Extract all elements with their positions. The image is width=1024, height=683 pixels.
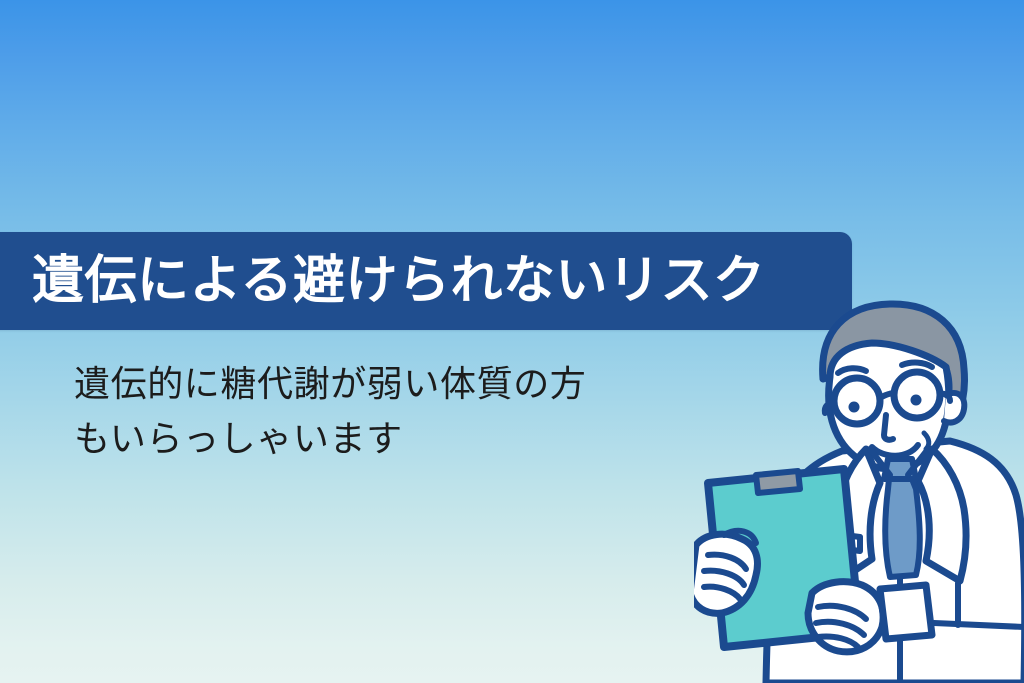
clipboard-board (708, 469, 860, 647)
title-banner: 遺伝による避けられないリスク (0, 232, 852, 330)
glasses-right-lens (894, 372, 940, 418)
coat-pocket (814, 531, 860, 537)
coat-lapel-left (836, 449, 880, 579)
glasses-bridge (880, 393, 894, 398)
hand-right-finger-3 (818, 636, 858, 647)
neck (870, 411, 926, 460)
subtitle-line-1: 遺伝的に糖代謝が弱い体質の方 (74, 357, 714, 412)
glasses-right-temple (940, 394, 950, 401)
eyebrow-left (838, 368, 866, 373)
coat-body (766, 441, 1024, 683)
hand-left (694, 531, 757, 613)
nose (884, 415, 893, 440)
slide-root: 遺伝による避けられないリスク 遺伝的に糖代謝が弱い体質の方 もいらっしゃいます (0, 0, 1024, 683)
cheek-line (924, 433, 929, 449)
subtitle-block: 遺伝的に糖代謝が弱い体質の方 もいらっしゃいます (74, 357, 714, 466)
ear (944, 393, 964, 423)
glasses-left-lens (834, 378, 880, 424)
coat-sleeve-seam (789, 519, 798, 613)
doctor-svg (694, 283, 1024, 683)
hand-left-thumb (724, 531, 756, 543)
clipboard (708, 469, 860, 647)
collar-left (870, 449, 890, 475)
subtitle-line-2: もいらっしゃいます (74, 412, 714, 467)
doctor-illustration (694, 283, 1024, 683)
eye-left (849, 402, 860, 413)
eye-right (911, 395, 922, 406)
coat-pocket-2 (814, 531, 860, 551)
eyebrow-right (902, 363, 932, 367)
coat-hip-line (934, 623, 1024, 627)
hand-right-finger-1 (818, 606, 866, 619)
hand-right-finger-2 (816, 622, 864, 635)
hand-right-palm (808, 582, 883, 652)
glasses-left-temple (825, 403, 834, 413)
hand-left-finger-3 (704, 587, 740, 599)
page-title: 遺伝による避けられないリスク (32, 255, 765, 307)
face (829, 343, 949, 469)
mouth (872, 445, 918, 456)
hand-left-finger-1 (708, 555, 746, 569)
shirt-shading (866, 433, 932, 489)
tie-knot (884, 459, 916, 479)
coat-cuff (880, 585, 932, 639)
hand-left-palm (694, 534, 757, 613)
hand-right (808, 582, 883, 652)
hand-left-finger-2 (704, 571, 744, 585)
clipboard-clip (756, 471, 800, 493)
coat-lapel-right (918, 449, 966, 581)
collar-right (908, 449, 928, 475)
tie (885, 469, 920, 577)
